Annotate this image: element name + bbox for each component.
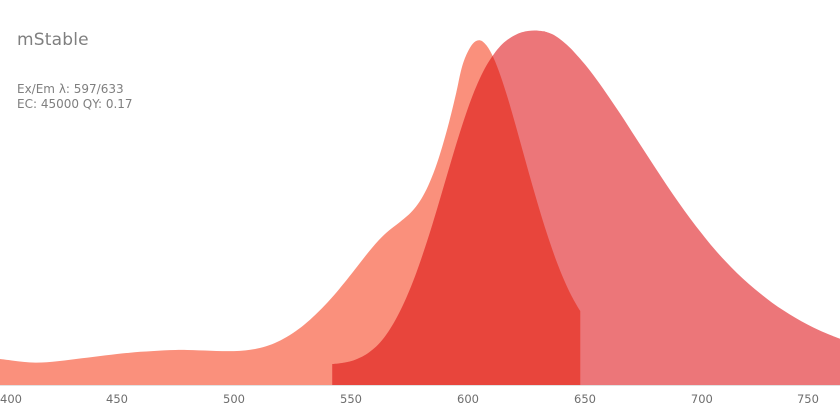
spectra-chart: mStable Ex/Em λ: 597/633 EC: 45000 QY: 0…: [0, 0, 840, 420]
spectral-overlap-area: [0, 40, 580, 385]
spectra-plot: [0, 0, 840, 420]
